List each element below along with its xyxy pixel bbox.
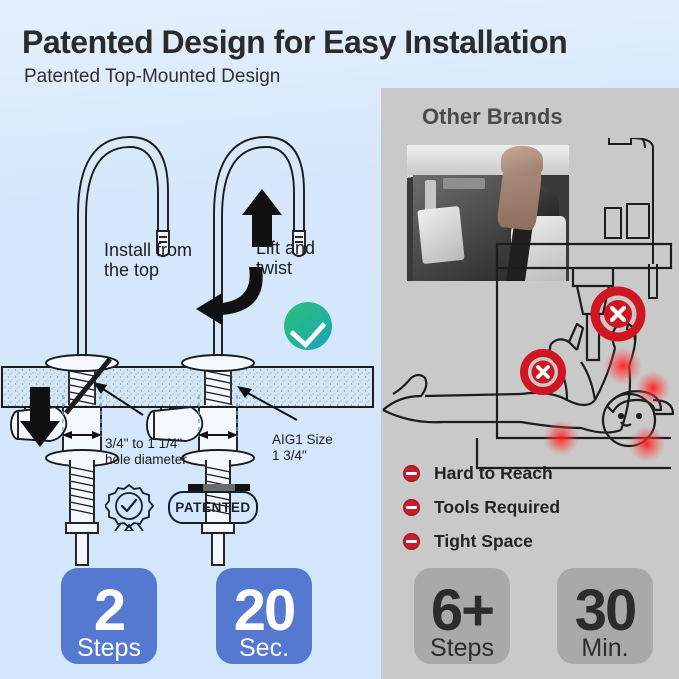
- list-item: Tools Required: [403, 490, 560, 524]
- stat-other-steps-number: 6+: [431, 586, 493, 636]
- other-brands-panel: Other Brands: [381, 88, 679, 679]
- stat-steps-unit: Steps: [77, 636, 141, 665]
- patented-label: PATENTED: [175, 500, 251, 515]
- other-brands-title: Other Brands: [422, 104, 563, 130]
- dimension-hole-line2: hole diameter: [105, 452, 221, 468]
- prohibition-icon: [403, 533, 420, 550]
- stat-other-steps-unit: Steps: [430, 636, 494, 665]
- stat-box-other-steps: 6+ Steps: [414, 568, 510, 664]
- bullet-label: Hard to Reach: [434, 463, 553, 484]
- bullet-label: Tight Space: [434, 531, 533, 552]
- stat-seconds-unit: Sec.: [239, 636, 289, 665]
- infographic-root: Patented Design for Easy Installation Pa…: [0, 0, 679, 679]
- dimension-aig-line1: AIG1 Size: [272, 432, 368, 448]
- patented-pill: PATENTED: [168, 491, 258, 524]
- red-x-marker: [524, 353, 562, 391]
- rosette-check-icon: [105, 483, 165, 531]
- bullet-label: Tools Required: [434, 497, 560, 518]
- dimension-hole-diameter: 3/4" to 1 1/4" hole diameter: [105, 436, 221, 468]
- dimension-aig1-size: AIG1 Size 1 3/4": [272, 432, 368, 464]
- annotation-lift-and-twist: Lift and twist: [256, 238, 342, 278]
- other-brands-problem-list: Hard to Reach Tools Required Tight Space: [403, 456, 560, 558]
- rotate-arrow-icon: [196, 267, 263, 325]
- stat-box-seconds: 20 Sec.: [216, 568, 312, 664]
- dimension-aig-line2: 1 3/4": [272, 448, 368, 464]
- green-check-circle-icon: [284, 302, 332, 350]
- list-item: Hard to Reach: [403, 456, 560, 490]
- under-sink-scene: [381, 138, 679, 478]
- list-item: Tight Space: [403, 524, 560, 558]
- stat-box-other-minutes: 30 Min.: [557, 568, 653, 664]
- stat-seconds-number: 20: [234, 586, 295, 636]
- countertop-slab: [2, 367, 373, 407]
- stat-steps-number: 2: [94, 586, 124, 636]
- page-title: Patented Design for Easy Installation: [22, 24, 672, 61]
- prohibition-icon: [403, 499, 420, 516]
- stat-other-minutes-unit: Min.: [581, 636, 628, 665]
- patented-badge: PATENTED: [105, 483, 255, 531]
- stat-other-minutes-number: 30: [575, 586, 636, 636]
- prohibition-icon: [403, 465, 420, 482]
- annotation-install-from-top: Install from the top: [104, 240, 200, 280]
- stat-box-steps: 2 Steps: [61, 568, 157, 664]
- dimension-hole-line1: 3/4" to 1 1/4": [105, 436, 221, 452]
- page-subtitle: Patented Top-Mounted Design: [24, 66, 280, 88]
